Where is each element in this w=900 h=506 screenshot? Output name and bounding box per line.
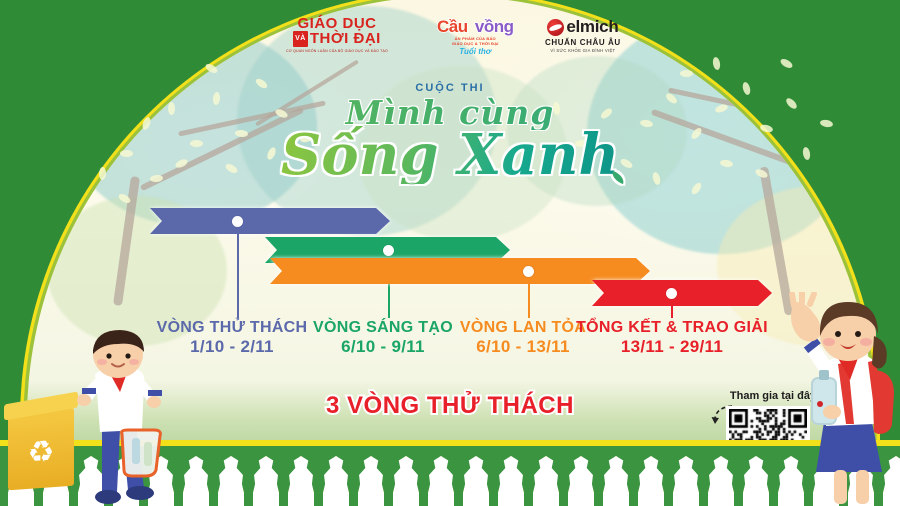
fence-picket xyxy=(463,456,489,506)
elmich-swoosh-icon xyxy=(547,19,564,36)
logo-gd-tagline: CƠ QUAN NGÔN LUẬN CỦA BỘ GIÁO DỤC VÀ ĐÀO… xyxy=(286,49,388,53)
logo-cv-word2: vồng xyxy=(475,17,514,36)
fence-picket xyxy=(393,456,419,506)
leaf-shape xyxy=(680,70,693,77)
fence-picket xyxy=(358,456,384,506)
logo-elmich: elmich CHUẨN CHÂU ÂU VÌ SỨC KHỎE GIA ĐÌN… xyxy=(545,17,621,53)
fence-picket xyxy=(428,456,454,506)
title-block: Mình cùng Sống Xanh xyxy=(0,96,900,184)
title-line-2: Sống Xanh xyxy=(281,126,619,184)
fence-picket xyxy=(568,456,594,506)
fence-picket xyxy=(533,456,559,506)
logo-row: GIÁO DỤC VÀTHỜI ĐẠI CƠ QUAN NGÔN LUẬN CỦ… xyxy=(0,12,900,64)
logo-cv-sub2: GIÁO DỤC & THỜI ĐẠI xyxy=(437,41,513,46)
logo-elmich-sub2: VÌ SỨC KHỎE GIA ĐÌNH VIỆT xyxy=(545,48,621,53)
fence-picket xyxy=(183,456,209,506)
fence-picket xyxy=(498,456,524,506)
logo-elmich-name: elmich xyxy=(566,17,618,37)
fence-picket xyxy=(253,456,279,506)
poster-canvas: GIÁO DỤC VÀTHỜI ĐẠI CƠ QUAN NGÔN LUẬN CỦ… xyxy=(0,0,900,506)
logo-cau-vong: Cầu vồng ẤN PHẨM CỦA BÁO GIÁO DỤC & THỜI… xyxy=(437,18,513,56)
tree-blob xyxy=(47,196,227,346)
logo-giao-duc-thoi-dai: GIÁO DỤC VÀTHỜI ĐẠI CƠ QUAN NGÔN LUẬN CỦ… xyxy=(286,16,388,53)
recycle-icon: ♻ xyxy=(24,435,58,471)
logo-gd-line2: VÀTHỜI ĐẠI xyxy=(286,31,388,47)
fence-picket xyxy=(673,456,699,506)
fence-picket xyxy=(288,456,314,506)
logo-cv-words: Cầu vồng xyxy=(437,18,513,36)
fence-picket xyxy=(638,456,664,506)
logo-elmich-sub1: CHUẨN CHÂU ÂU xyxy=(545,38,621,47)
fence-picket xyxy=(708,456,734,506)
logo-elmich-row: elmich xyxy=(545,17,621,37)
character-boy xyxy=(62,330,174,506)
logo-cv-word1: Cầu xyxy=(437,17,468,36)
fence-picket xyxy=(323,456,349,506)
logo-gd-line1: GIÁO DỤC xyxy=(286,16,388,31)
character-girl xyxy=(786,292,900,506)
fence-picket xyxy=(218,456,244,506)
fence-picket xyxy=(743,456,769,506)
fence-picket xyxy=(603,456,629,506)
logo-cv-tuoitho: Tuổi thơ xyxy=(437,47,513,56)
logo-gd-badge: VÀ xyxy=(293,31,308,47)
